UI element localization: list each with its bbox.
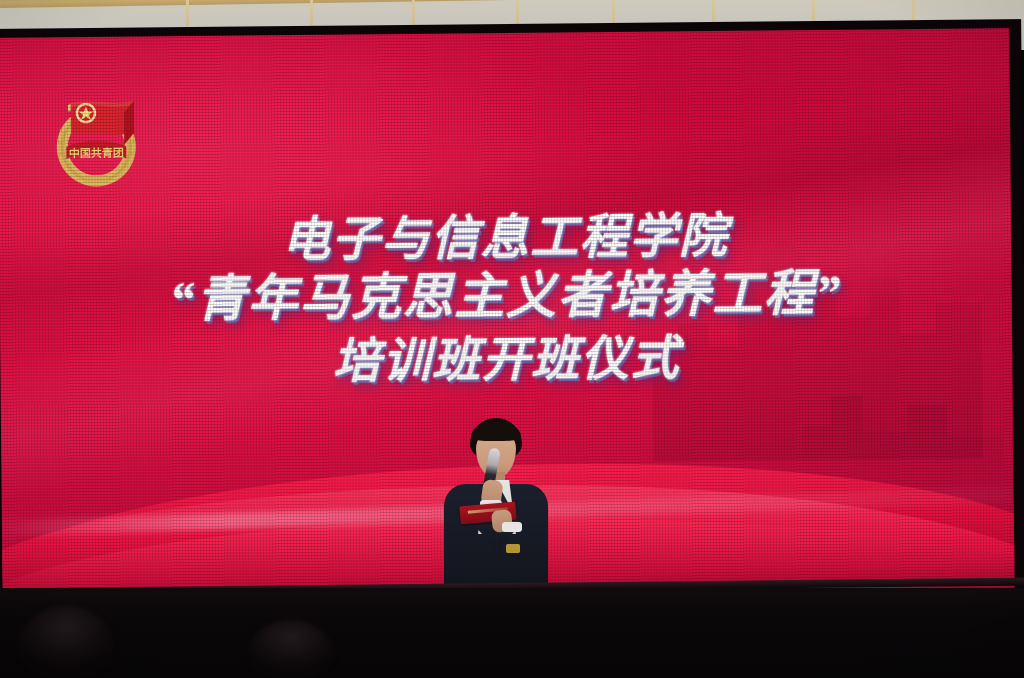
audience-head-silhouette — [18, 606, 114, 678]
stage-floor — [0, 588, 1024, 678]
name-tag-icon — [506, 544, 520, 553]
title-line-2: “青年马克思主义者培养工程” — [0, 259, 1012, 334]
audience-head-silhouette — [248, 620, 334, 678]
shirt-cuff-left — [502, 522, 522, 532]
title-line-3: 培训班开班仪式 — [0, 324, 1013, 398]
backdrop-title-block: 电子与信息工程学院 “青年马克思主义者培养工程” 培训班开班仪式 — [0, 210, 1013, 398]
svg-text:中国共青团: 中国共青团 — [69, 146, 124, 161]
ceiling-wood-band — [0, 0, 1024, 8]
communist-youth-league-emblem: 中国共青团 — [38, 88, 155, 187]
photo-scene: 中国共青团 电子与信息工程学院 “青年马克思主义者培养工程” 培训班开班仪式 2… — [0, 0, 1024, 678]
